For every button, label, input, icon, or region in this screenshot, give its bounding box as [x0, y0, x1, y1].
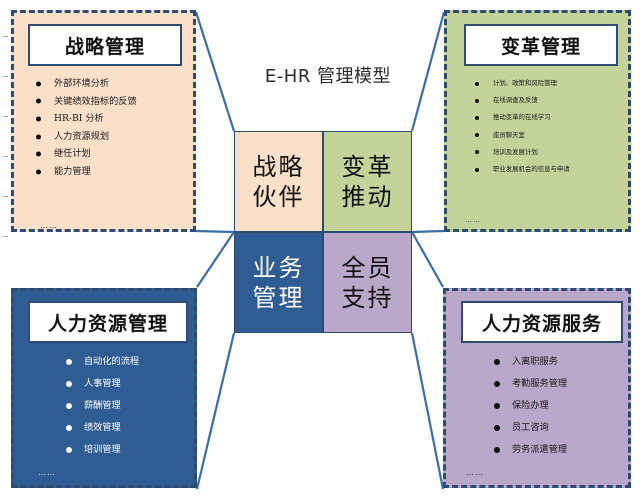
- matrix-cell-line1: 全员: [342, 253, 394, 283]
- panel-hr-service-ellipsis: ……: [466, 468, 484, 477]
- connector-hrs-top: [412, 232, 443, 287]
- list-item-label: 员工咨询: [512, 422, 549, 433]
- connector-strategy-top: [196, 12, 234, 131]
- connector-hrs-bottom: [412, 333, 443, 489]
- bullet-dot-icon: [475, 133, 479, 137]
- matrix-cell-change-driver[interactable]: 变革 推动: [323, 131, 412, 232]
- center-matrix: 战略 伙伴 变革 推动 业务 管理 全员 支持: [234, 131, 412, 333]
- bullet-dot-icon: [66, 403, 72, 409]
- matrix-cell-line1: 业务: [253, 253, 305, 283]
- diagram-canvas: E-HR 管理模型 战略管理 外部环境分析 关键绩效指标的反馈 HR-BI 分析…: [0, 0, 640, 500]
- list-item: 推动变革的在线学习: [475, 109, 635, 126]
- margin-tick: [3, 236, 8, 237]
- list-item: 保险办理: [494, 395, 640, 417]
- list-item-label: 计划、政策和风险管理: [493, 79, 557, 87]
- panel-change-bullet-list: 计划、政策和风险管理 在线调查及反馈 推动变革的在线学习 座员聊天室 培训及发展…: [475, 75, 635, 178]
- list-item: 计划、政策和风险管理: [475, 75, 635, 92]
- bullet-dot-icon: [475, 116, 479, 120]
- panel-hr-service[interactable]: 人力资源服务 入离职服务 考勤服务管理 保险办理 员工咨询 劳务派遣管理 ……: [443, 288, 631, 488]
- list-item: 入离职服务: [494, 351, 640, 373]
- panel-change-title: 变革管理: [464, 24, 618, 66]
- list-item-label: 自动化的流程: [84, 356, 139, 367]
- list-item: 人事管理: [66, 373, 216, 395]
- panel-change-management[interactable]: 变革管理 计划、政策和风险管理 在线调查及反馈 推动变革的在线学习 座员聊天室 …: [444, 10, 631, 232]
- panel-hr-management-bullet-list: 自动化的流程 人事管理 薪酬管理 绩效管理 培训管理: [66, 351, 216, 461]
- bullet-dot-icon: [494, 447, 500, 453]
- list-item-label: 继任计划: [54, 148, 91, 159]
- margin-tick: [3, 156, 8, 157]
- list-item-label: 考勤服务管理: [512, 378, 567, 389]
- bullet-dot-icon: [66, 425, 72, 431]
- bullet-dot-icon: [36, 134, 41, 139]
- diagram-title: E-HR 管理模型: [243, 62, 413, 88]
- matrix-cell-line2: 伙伴: [253, 182, 305, 212]
- panel-strategy-ellipsis: ……: [40, 221, 58, 230]
- bullet-dot-icon: [494, 425, 500, 431]
- bullet-dot-icon: [475, 150, 479, 154]
- list-item-label: 保险办理: [512, 400, 549, 411]
- list-item: 培训管理: [66, 439, 216, 461]
- list-item-label: 培训及发展计划: [493, 148, 538, 156]
- matrix-cell-strategic-partner[interactable]: 战略 伙伴: [234, 131, 323, 232]
- matrix-cell-business-management[interactable]: 业务 管理: [234, 232, 323, 333]
- list-item-label: 在线调查及反馈: [493, 96, 538, 104]
- list-item: 考勤服务管理: [494, 373, 640, 395]
- margin-tick: [3, 36, 8, 37]
- panel-change-ellipsis: ……: [465, 216, 481, 224]
- panel-hr-service-bullet-list: 入离职服务 考勤服务管理 保险办理 员工咨询 劳务派遣管理: [494, 351, 640, 461]
- bullet-dot-icon: [36, 169, 41, 174]
- list-item-label: 绩效管理: [84, 422, 121, 433]
- matrix-cell-line2: 管理: [253, 283, 305, 313]
- panel-strategy-management[interactable]: 战略管理 外部环境分析 关键绩效指标的反馈 HR-BI 分析 人力资源规划 继任…: [11, 10, 196, 232]
- panel-hr-management-title: 人力资源管理: [28, 301, 188, 343]
- bullet-dot-icon: [66, 381, 72, 387]
- panel-hr-service-title: 人力资源服务: [461, 301, 623, 343]
- list-item: 能力管理: [36, 163, 196, 181]
- panel-strategy-bullet-list: 外部环境分析 关键绩效指标的反馈 HR-BI 分析 人力资源规划 继任计划 能力…: [36, 75, 196, 181]
- list-item: HR-BI 分析: [36, 110, 196, 128]
- bullet-dot-icon: [475, 99, 479, 103]
- panel-hr-management[interactable]: 人力资源管理 自动化的流程 人事管理 薪酬管理 绩效管理 培训管理 ……: [11, 288, 197, 488]
- connector-change-top: [412, 12, 444, 131]
- bullet-dot-icon: [475, 168, 479, 172]
- list-item-label: 人力资源规划: [54, 131, 109, 142]
- list-item-label: 关键绩效指标的反馈: [54, 96, 137, 107]
- list-item: 关键绩效指标的反馈: [36, 93, 196, 111]
- list-item-label: 外部环境分析: [54, 78, 109, 89]
- matrix-cell-line2: 推动: [342, 182, 394, 212]
- list-item: 人力资源规划: [36, 128, 196, 146]
- bullet-dot-icon: [66, 359, 72, 365]
- list-item: 薪酬管理: [66, 395, 216, 417]
- list-item-label: 人事管理: [84, 378, 121, 389]
- bullet-dot-icon: [475, 82, 479, 86]
- connector-change-bottom: [412, 231, 444, 232]
- bullet-dot-icon: [36, 152, 41, 157]
- matrix-cell-line2: 支持: [342, 283, 394, 313]
- bullet-dot-icon: [36, 116, 41, 121]
- list-item-label: 劳务派遣管理: [512, 444, 567, 455]
- bullet-dot-icon: [66, 447, 72, 453]
- list-item-label: HR-BI 分析: [54, 113, 104, 124]
- panel-strategy-title: 战略管理: [28, 24, 182, 66]
- list-item: 自动化的流程: [66, 351, 216, 373]
- connector-strategy-bottom: [196, 231, 234, 232]
- list-item: 职业发展机会的信息与申请: [475, 161, 635, 178]
- list-item-label: 能力管理: [54, 166, 91, 177]
- list-item-label: 推动变革的在线学习: [493, 113, 551, 121]
- list-item-label: 入离职服务: [512, 356, 558, 367]
- connector-hrm-top: [197, 232, 234, 287]
- list-item-label: 职业发展机会的信息与申请: [493, 165, 570, 173]
- bullet-dot-icon: [36, 81, 41, 86]
- margin-tick: [3, 116, 8, 117]
- matrix-cell-line1: 战略: [253, 152, 305, 182]
- margin-tick: [3, 196, 8, 197]
- list-item: 继任计划: [36, 145, 196, 163]
- bullet-dot-icon: [494, 359, 500, 365]
- margin-tick: [3, 76, 8, 77]
- list-item: 座员聊天室: [475, 127, 635, 144]
- list-item-label: 座员聊天室: [493, 131, 525, 139]
- bullet-dot-icon: [36, 99, 41, 104]
- bullet-dot-icon: [494, 403, 500, 409]
- list-item: 培训及发展计划: [475, 144, 635, 161]
- bullet-dot-icon: [494, 381, 500, 387]
- list-item: 员工咨询: [494, 417, 640, 439]
- list-item: 绩效管理: [66, 417, 216, 439]
- matrix-cell-employee-support[interactable]: 全员 支持: [323, 232, 412, 333]
- list-item-label: 薪酬管理: [84, 400, 121, 411]
- matrix-cell-line1: 变革: [342, 152, 394, 182]
- panel-hr-management-ellipsis: ……: [38, 468, 56, 477]
- list-item: 劳务派遣管理: [494, 439, 640, 461]
- list-item: 外部环境分析: [36, 75, 196, 93]
- list-item: 在线调查及反馈: [475, 92, 635, 109]
- list-item-label: 培训管理: [84, 444, 121, 455]
